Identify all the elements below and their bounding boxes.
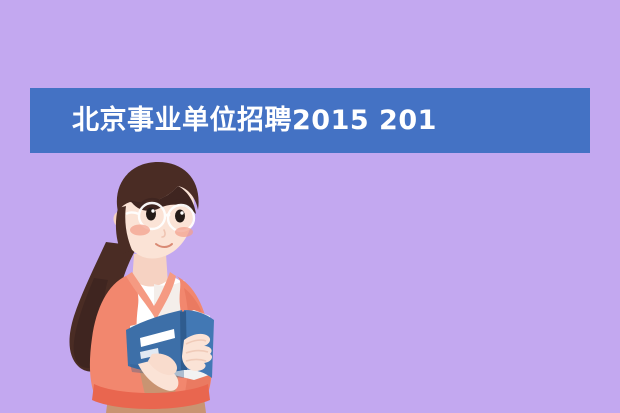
woman-reading-book-illustration bbox=[34, 158, 264, 413]
page-title: 北京事业单位招聘2015 201 bbox=[72, 107, 437, 134]
title-banner: 北京事业单位招聘2015 201 bbox=[30, 88, 590, 153]
thumbnail-canvas: 北京事业单位招聘2015 201 bbox=[0, 0, 620, 413]
